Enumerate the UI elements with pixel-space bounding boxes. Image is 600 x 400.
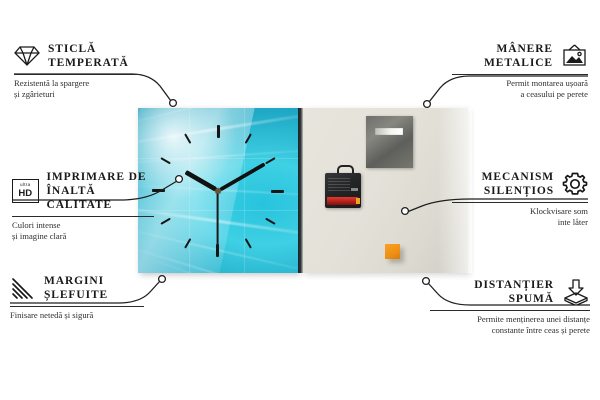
callout-divider <box>430 310 590 311</box>
callout-divider <box>452 202 588 203</box>
callout-title-line2: SILENȚIOS <box>482 184 554 198</box>
product-image <box>138 108 468 273</box>
battery <box>327 197 358 205</box>
callout-print-quality: ultra HD IMPRIMARE DE ÎNALTĂ CALITATE Cu… <box>12 170 154 242</box>
callout-desc-line2: inte låter <box>452 217 588 228</box>
callout-divider <box>12 216 154 217</box>
callout-divider <box>10 306 144 307</box>
callout-title-line1: MARGINI <box>44 274 108 288</box>
callout-desc-line1: Rezistentă la spargere <box>14 78 140 89</box>
callout-desc-line1: Culori intense <box>12 220 154 231</box>
callout-title-line2: SPUMĂ <box>474 292 554 306</box>
product-back-panel <box>303 108 468 273</box>
callout-divider <box>452 74 588 75</box>
clock-face-panel <box>138 108 298 273</box>
foam-spacer <box>385 244 400 259</box>
ultra-hd-icon: ultra HD <box>12 179 39 203</box>
callout-title-line1: MÂNERE <box>484 42 553 56</box>
callout-title-line2: METALICE <box>484 56 553 70</box>
clock-center-cap <box>215 188 221 194</box>
clock-second-hand <box>217 191 219 249</box>
leader-endpoint <box>424 101 431 108</box>
callout-title-line2: ÎNALTĂ CALITATE <box>47 184 154 212</box>
clock-tick <box>152 190 218 192</box>
callout-tempered-glass: STICLĂ TEMPERATĂ Rezistentă la spargere … <box>14 42 140 100</box>
clock-tick <box>218 190 284 192</box>
callout-desc-line2: a ceasului pe perete <box>452 89 588 100</box>
callout-desc-line1: Permite menținerea unei distanțe <box>430 314 590 325</box>
clock-mechanism <box>325 170 361 208</box>
callout-desc-line2: și imagine clară <box>12 231 154 242</box>
callout-title-line1: MECANISM <box>482 170 554 184</box>
callout-desc-line1: Finisare netedă și sigură <box>10 310 144 321</box>
leader-endpoint <box>170 100 177 107</box>
callout-title-line2: ȘLEFUITE <box>44 288 108 302</box>
leader-endpoint <box>423 278 430 285</box>
callout-divider <box>14 74 140 75</box>
infographic-canvas: STICLĂ TEMPERATĂ Rezistentă la spargere … <box>0 0 600 400</box>
callout-metal-handles: MÂNERE METALICE Permit montarea ușoară a… <box>452 42 588 100</box>
spacer-arrow-icon <box>562 279 590 305</box>
mechanism-label <box>328 177 350 191</box>
callout-title-line1: STICLĂ <box>48 42 129 56</box>
callout-polished-edges: MARGINI ȘLEFUITE Finisare netedă și sigu… <box>10 274 144 321</box>
callout-desc-line1: Klockvisare som <box>452 206 588 217</box>
callout-title-line1: IMPRIMARE DE <box>47 170 154 184</box>
mechanism-body <box>325 173 361 208</box>
wall-frame-icon <box>561 44 588 68</box>
callout-foam-spacer: DISTANȚIER SPUMĂ Permite menținerea unei… <box>430 278 590 336</box>
diamond-icon <box>14 45 40 67</box>
metal-hanger-plate <box>366 116 413 168</box>
clock-tick <box>217 125 219 191</box>
callout-title-line1: DISTANȚIER <box>474 278 554 292</box>
polished-edge-icon <box>10 276 36 300</box>
gear-icon <box>562 171 588 197</box>
leader-endpoint <box>159 276 166 283</box>
callout-silent-mechanism: MECANISM SILENȚIOS Klockvisare som inte … <box>452 170 588 228</box>
callout-desc-line1: Permit montarea ușoară <box>452 78 588 89</box>
ultra-hd-icon-main: HD <box>18 189 32 199</box>
callout-title-line2: TEMPERATĂ <box>48 56 129 70</box>
callout-desc-line2: și zgârieturi <box>14 89 140 100</box>
callout-desc-line2: constante între ceas și perete <box>430 325 590 336</box>
mechanism-chip <box>351 188 358 191</box>
